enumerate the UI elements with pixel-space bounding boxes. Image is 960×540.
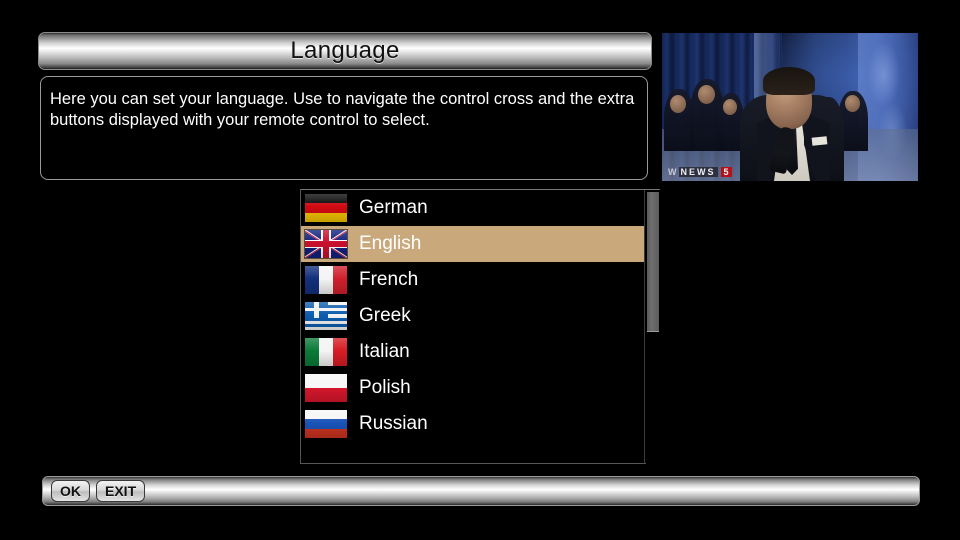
language-list[interactable]: German English French [300, 189, 660, 464]
channel-logo-badge: 5 [721, 167, 732, 177]
video-crowd-head [670, 95, 686, 113]
flag-russia-icon [305, 410, 347, 438]
list-item[interactable]: Russian [301, 406, 644, 442]
language-list-rows: German English French [301, 190, 644, 463]
list-item[interactable]: Polish [301, 370, 644, 406]
list-item[interactable]: German [301, 190, 644, 226]
list-item-label: English [359, 233, 421, 255]
scrollbar[interactable] [646, 190, 660, 465]
list-divider [644, 190, 645, 463]
video-crowd-head [698, 85, 715, 104]
channel-logo-mark: W [668, 167, 676, 177]
ok-button[interactable]: OK [51, 480, 90, 502]
flag-france-icon [305, 266, 347, 294]
flag-united-kingdom-icon [305, 230, 347, 258]
video-crowd-head [723, 99, 737, 115]
flag-italy-icon [305, 338, 347, 366]
list-item[interactable]: English [301, 226, 644, 262]
flag-greece-icon [305, 302, 347, 330]
video-reporter-hair [763, 67, 815, 95]
bottom-action-bar: OK EXIT [42, 476, 920, 506]
channel-logo-news: NEWS [679, 167, 718, 177]
list-item-label: German [359, 197, 428, 219]
list-item-label: Polish [359, 377, 411, 399]
list-item-label: Greek [359, 305, 411, 327]
video-channel-logo: W NEWS 5 [668, 165, 776, 178]
video-reporter-pocket-square [812, 136, 828, 146]
video-crowd-head [845, 95, 860, 112]
list-item[interactable]: French [301, 262, 644, 298]
page-title: Language [290, 37, 399, 65]
tv-settings-screen: Language Here you can set your language.… [0, 0, 960, 540]
list-item[interactable]: Greek [301, 298, 644, 334]
description-text: Here you can set your language. Use to n… [50, 89, 635, 131]
video-preview[interactable]: W NEWS 5 [662, 33, 918, 181]
flag-poland-icon [305, 374, 347, 402]
list-item-label: Italian [359, 341, 410, 363]
exit-button[interactable]: EXIT [96, 480, 145, 502]
flag-germany-icon [305, 194, 347, 222]
scrollbar-thumb[interactable] [647, 192, 659, 332]
list-item-label: Russian [359, 413, 428, 435]
description-panel: Here you can set your language. Use to n… [40, 76, 648, 180]
title-bar: Language [38, 32, 652, 70]
list-item-label: French [359, 269, 418, 291]
list-item[interactable]: Italian [301, 334, 644, 370]
